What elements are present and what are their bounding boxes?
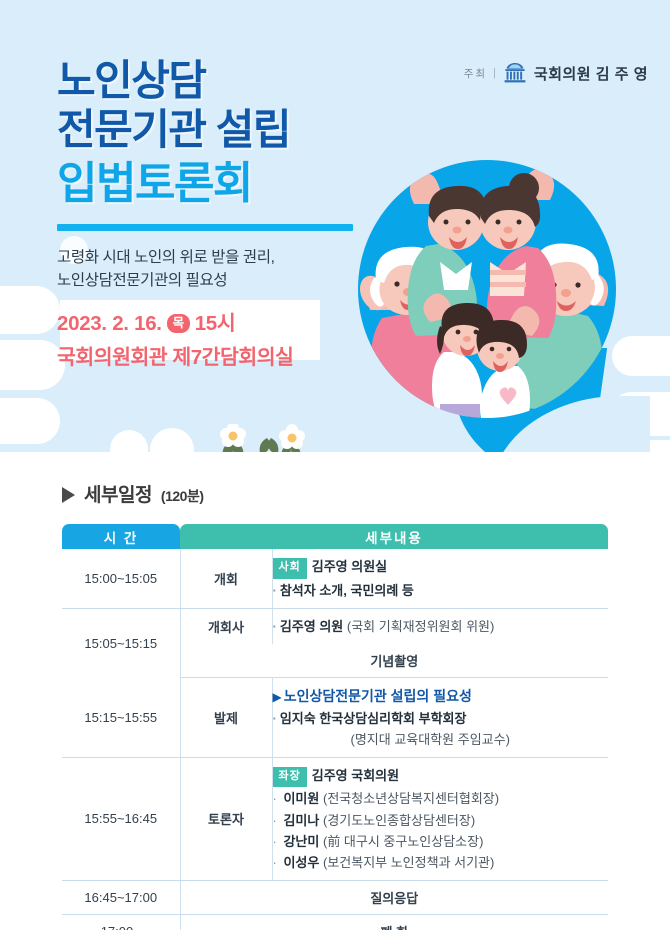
panelist: 김미나 (경기도노인종합상담센터장) (273, 810, 609, 831)
chair-name: 김주영 국회의원 (312, 768, 399, 783)
panelist-name: 강난미 (283, 834, 319, 849)
subtitle-line-1: 고령화 시대 노인의 위로 받을 권리, (57, 246, 387, 269)
arrow-right-icon: ▶ (273, 690, 282, 704)
column-header-time: 시 간 (62, 524, 180, 549)
schedule-title: 세부일정 (84, 480, 152, 507)
panelist: 강난미 (前 대구시 중구노인상담소장) (273, 831, 609, 852)
panelist-name: 이성우 (283, 855, 319, 870)
table-row: 16:45~17:00 질의응답 (62, 880, 608, 914)
row-span-label: 질의응답 (180, 880, 608, 914)
table-row: 17:00~ 폐 회 (62, 914, 608, 930)
subtitle: 고령화 시대 노인의 위로 받을 권리, 노인상담전문기관의 필요성 (57, 246, 387, 293)
national-assembly-icon (502, 62, 528, 84)
cloud-decoration (0, 398, 60, 444)
schedule-duration: (120분) (161, 486, 204, 506)
row-time: 15:15~15:55 (62, 677, 180, 757)
row-time: 15:00~15:05 (62, 549, 180, 608)
table-row: 15:05~15:15 개회사 김주영 의원 (국회 기획재정위원회 위원) (62, 608, 608, 644)
chair-line: 좌장김주영 국회의원 (273, 765, 609, 789)
sponsor-name: 국회의원 김 주 영 (534, 63, 648, 84)
title-accent: 입법토론회 (57, 158, 387, 210)
title-line-2: 전문기관 설립 (57, 105, 387, 154)
family-illustration-icon (352, 160, 652, 470)
row-detail: ▶노인상담전문기관 설립의 필요성 임지숙 한국상담심리학회 부학회장 (명지대… (272, 677, 608, 757)
detail-line: 참석자 소개, 국민의례 등 (273, 580, 609, 601)
speaker-name: 김주영 의원 (273, 619, 344, 634)
panelist: 이미원 (전국청소년상담복지센터협회장) (273, 788, 609, 809)
row-detail: 김주영 의원 (국회 기획재정위원회 위원) (272, 608, 608, 644)
cloud-decoration (0, 340, 65, 390)
role-badge: 좌장 (273, 767, 307, 788)
presenter-name: 임지숙 한국상담심리학회 부학회장 (273, 708, 609, 729)
row-kind: 토론자 (180, 757, 272, 880)
event-day-badge: 목 (167, 314, 190, 333)
hero-bottom-band (0, 452, 670, 470)
poster: 주최 | 국회의원 김 주 영 노인상담 전문기관 설립 입법토론회 고령화 시… (0, 0, 670, 930)
agenda-table: 시 간 세부내용 15:00~15:05 개회 사회김주영 의원실 참석자 소개… (62, 524, 608, 930)
subtitle-line-2: 노인상담전문기관의 필요성 (57, 269, 387, 292)
panelist-name: 김미나 (283, 813, 319, 828)
row-time: 16:45~17:00 (62, 880, 180, 914)
panelist: 이성우 (보건복지부 노인정책과 서기관) (273, 852, 609, 873)
sponsor-credit: 주최 | 국회의원 김 주 영 (464, 62, 648, 84)
title-divider (57, 224, 353, 231)
row-span-label: 폐 회 (180, 914, 608, 930)
cloud-decoration (0, 286, 60, 334)
speaker-affiliation: (국회 기획재정위원회 위원) (347, 619, 494, 634)
panelist-affiliation: (보건복지부 노인정책과 서기관) (323, 855, 494, 870)
presentation-heading: ▶노인상담전문기관 설립의 필요성 (273, 685, 609, 708)
event-date: 2023. 2. 16. (57, 310, 162, 338)
agenda-header-row: 시 간 세부내용 (62, 524, 608, 549)
row-detail: 좌장김주영 국회의원 이미원 (전국청소년상담복지센터협회장) 김미나 (경기도… (272, 757, 608, 880)
row-time: 15:05~15:15 (62, 608, 180, 677)
schedule-heading: 세부일정 (120분) (62, 480, 204, 507)
event-datetime: 2023. 2. 16. 목 15시 (57, 310, 387, 338)
role-badge: 사회 (273, 558, 307, 579)
presenter-affiliation: (명지대 교육대학원 주임교수) (273, 729, 609, 750)
sponsor-label: 주최 (464, 66, 487, 81)
moderator-name: 김주영 의원실 (312, 559, 387, 574)
panelist-name: 이미원 (283, 791, 319, 806)
row-time: 15:55~16:45 (62, 757, 180, 880)
presentation-title: 노인상담전문기관 설립의 필요성 (284, 688, 472, 704)
moderator-line: 사회김주영 의원실 (273, 556, 609, 580)
panelist-affiliation: (前 대구시 중구노인상담소장) (323, 834, 483, 849)
panelist-affiliation: (경기도노인종합상담센터장) (323, 813, 475, 828)
event-time: 15시 (195, 310, 236, 338)
title-line-1: 노인상담 (57, 56, 387, 105)
title-block: 노인상담 전문기관 설립 입법토론회 고령화 시대 노인의 위로 받을 권리, … (57, 56, 387, 370)
row-kind: 발제 (180, 677, 272, 757)
table-row: 15:00~15:05 개회 사회김주영 의원실 참석자 소개, 국민의례 등 (62, 549, 608, 608)
row-kind: 개회사 (180, 608, 272, 644)
row-kind: 개회 (180, 549, 272, 608)
row-span-label: 기념촬영 (180, 644, 608, 678)
sponsor-divider: | (493, 67, 496, 79)
table-row: 15:55~16:45 토론자 좌장김주영 국회의원 이미원 (전국청소년상담복… (62, 757, 608, 880)
table-row: 15:15~15:55 발제 ▶노인상담전문기관 설립의 필요성 임지숙 한국상… (62, 677, 608, 757)
event-venue: 국회의원회관 제7간담회의실 (57, 340, 387, 370)
column-header-detail: 세부내용 (180, 524, 608, 549)
speech-bubble-illustration (352, 160, 652, 470)
panelist-affiliation: (전국청소년상담복지센터협회장) (323, 791, 499, 806)
row-time: 17:00~ (62, 914, 180, 930)
row-detail: 사회김주영 의원실 참석자 소개, 국민의례 등 (272, 549, 608, 608)
triangle-right-icon (62, 487, 75, 503)
